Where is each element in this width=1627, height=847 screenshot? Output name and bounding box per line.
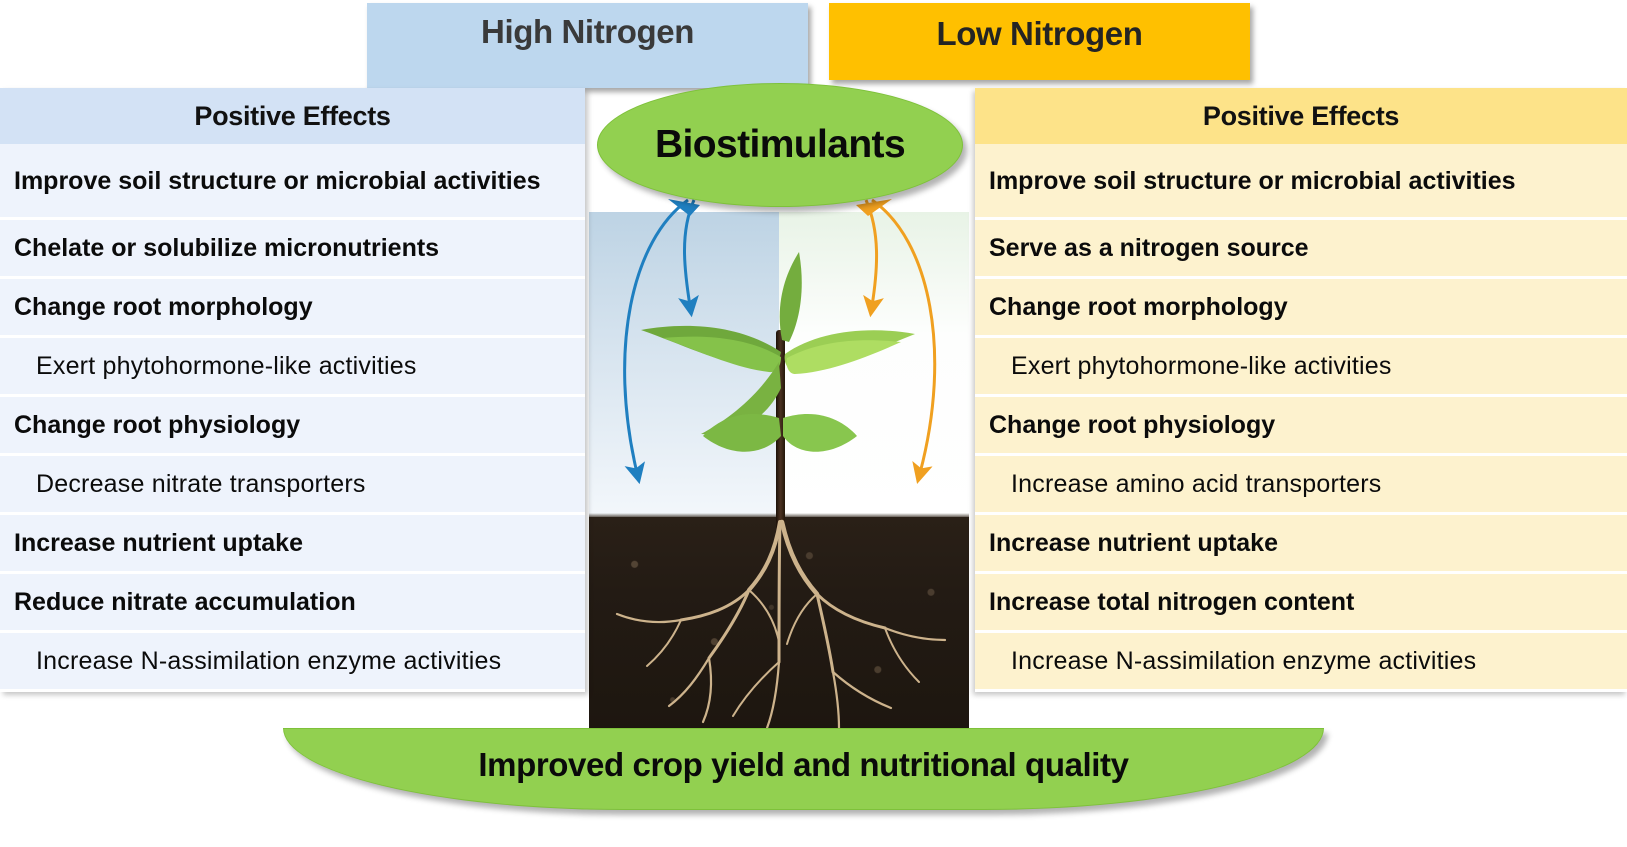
- list-item-label: Change root morphology: [989, 292, 1288, 322]
- plant-illustration: [589, 212, 969, 732]
- list-item-label: Increase nutrient uptake: [989, 528, 1278, 558]
- list-item-label: Reduce nitrate accumulation: [14, 587, 356, 617]
- list-item[interactable]: Change root morphology: [0, 279, 585, 338]
- list-item-label: Increase amino acid transporters: [1011, 469, 1381, 499]
- list-item-label: Increase nutrient uptake: [14, 528, 303, 558]
- bottom-outcome-label: Improved crop yield and nutritional qual…: [478, 746, 1128, 784]
- bottom-outcome-banner: Improved crop yield and nutritional qual…: [283, 728, 1324, 810]
- tab-low-nitrogen[interactable]: Low Nitrogen: [829, 3, 1250, 80]
- list-item-label: Exert phytohormone-like activities: [1011, 351, 1392, 381]
- list-item[interactable]: Improve soil structure or microbial acti…: [0, 144, 585, 220]
- list-item[interactable]: Increase nutrient uptake: [0, 515, 585, 574]
- list-item-label: Chelate or solubilize micronutrients: [14, 233, 439, 263]
- list-item[interactable]: Change root morphology: [975, 279, 1627, 338]
- seedling-photo: [589, 212, 969, 732]
- list-item[interactable]: Increase N-assimilation enzyme activitie…: [975, 633, 1627, 692]
- right-panel-header-label: Positive Effects: [1203, 101, 1399, 132]
- list-item[interactable]: Increase total nitrogen content: [975, 574, 1627, 633]
- list-item-label: Increase N-assimilation enzyme activitie…: [36, 646, 501, 676]
- list-item[interactable]: Increase amino acid transporters: [975, 456, 1627, 515]
- list-item-label: Exert phytohormone-like activities: [36, 351, 417, 381]
- list-item[interactable]: Change root physiology: [0, 397, 585, 456]
- list-item-label: Change root physiology: [989, 410, 1275, 440]
- list-item-label: Improve soil structure or microbial acti…: [14, 166, 541, 196]
- leaf-group-right: [785, 330, 915, 374]
- list-item-label: Decrease nitrate transporters: [36, 469, 366, 499]
- biostimulants-label: Biostimulants: [655, 123, 905, 167]
- list-item[interactable]: Exert phytohormone-like activities: [975, 338, 1627, 397]
- list-item-label: Change root morphology: [14, 292, 313, 322]
- list-item[interactable]: Exert phytohormone-like activities: [0, 338, 585, 397]
- list-item[interactable]: Reduce nitrate accumulation: [0, 574, 585, 633]
- list-item[interactable]: Serve as a nitrogen source: [975, 220, 1627, 279]
- list-item[interactable]: Improve soil structure or microbial acti…: [975, 144, 1627, 220]
- list-item-label: Serve as a nitrogen source: [989, 233, 1309, 263]
- list-item[interactable]: Increase nutrient uptake: [975, 515, 1627, 574]
- tab-low-nitrogen-label: Low Nitrogen: [936, 15, 1142, 53]
- list-item-label: Increase total nitrogen content: [989, 587, 1354, 617]
- list-item[interactable]: Increase N-assimilation enzyme activitie…: [0, 633, 585, 692]
- list-item[interactable]: Change root physiology: [975, 397, 1627, 456]
- list-item-label: Improve soil structure or microbial acti…: [989, 166, 1516, 196]
- list-item[interactable]: Chelate or solubilize micronutrients: [0, 220, 585, 279]
- left-panel-header: Positive Effects: [0, 88, 585, 144]
- panel-high-nitrogen: Positive Effects Improve soil structure …: [0, 88, 585, 692]
- left-panel-header-label: Positive Effects: [194, 101, 390, 132]
- list-item[interactable]: Decrease nitrate transporters: [0, 456, 585, 515]
- list-item-label: Change root physiology: [14, 410, 300, 440]
- infographic-canvas: High Nitrogen Low Nitrogen: [0, 0, 1627, 847]
- tab-high-nitrogen[interactable]: High Nitrogen: [367, 3, 808, 88]
- root-system: [617, 522, 945, 728]
- biostimulants-ellipse: Biostimulants: [597, 83, 963, 207]
- right-panel-header: Positive Effects: [975, 88, 1627, 144]
- list-item-label: Increase N-assimilation enzyme activitie…: [1011, 646, 1476, 676]
- tab-high-nitrogen-label: High Nitrogen: [481, 13, 694, 51]
- panel-low-nitrogen: Positive Effects Improve soil structure …: [975, 88, 1627, 692]
